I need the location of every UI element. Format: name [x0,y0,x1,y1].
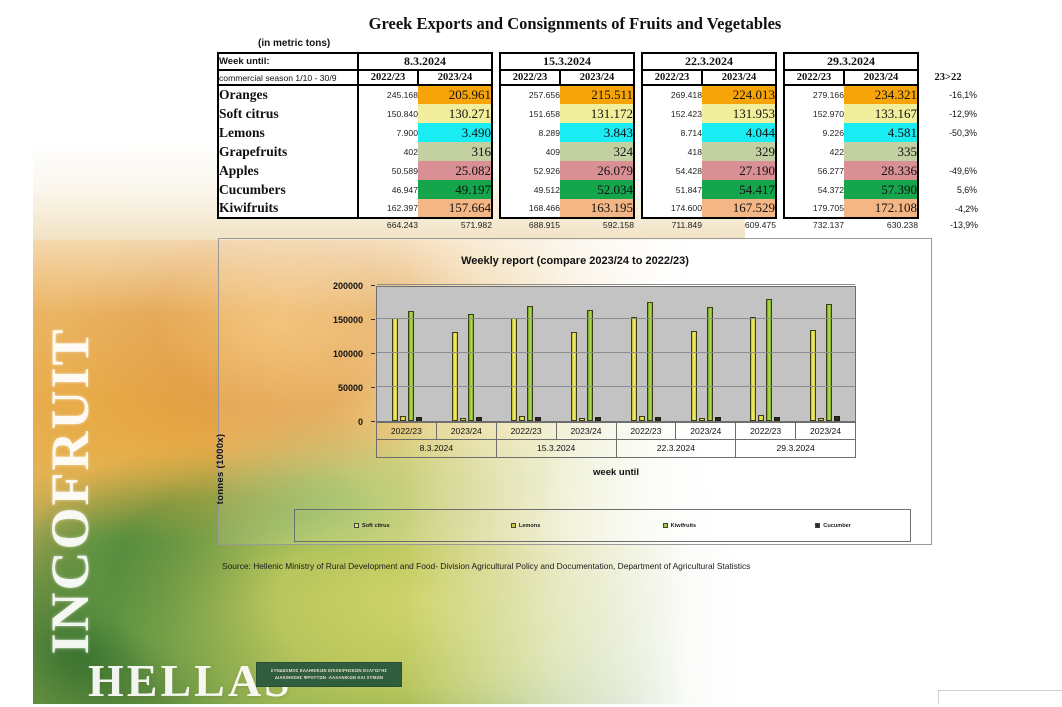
chart-panel: Weekly report (compare 2023/24 to 2022/2… [218,238,932,545]
cell-prev: 152.423 [642,104,702,123]
x-season-label: 2023/24 [436,422,496,439]
cell-current: 4.581 [844,123,918,142]
x-season-label: 2023/24 [675,422,735,439]
cell-prev: 51.847 [642,180,702,199]
chart-bar-group [437,287,497,421]
cell-prev: 151.658 [500,104,560,123]
chart-bar [476,417,482,421]
cell-prev: 179.705 [784,199,844,218]
spacer-cell [492,85,500,104]
watermark-brand: INCOFRUIT [39,311,101,671]
cell-current: 133.167 [844,104,918,123]
chart-bar [715,417,721,421]
chart-bar [519,416,525,421]
x-week-label: 22.3.2024 [616,440,736,458]
table-row: Grapefruits402316409324418329422335 [218,142,978,161]
x-season-label: 2022/23 [735,422,795,439]
chart-bar [631,317,637,421]
spacer-cell [634,104,642,123]
chart-gridline [377,386,855,387]
year-cur-3: 2023/24 [844,70,918,85]
row-label-cucumbers: Cucumbers [218,180,358,199]
chart-bar [655,417,661,421]
spacer-cell [634,218,642,231]
row-label-grapefruits: Grapefruits [218,142,358,161]
legend-label: Kiwifruits [671,523,696,529]
cell-current: 3.490 [418,123,492,142]
spacer-2 [776,53,784,70]
y-tick-mark [371,319,375,320]
association-badge: ΣΥΝΔΕΣΜΟΣ ΕΛΛΗΝΙΚΩΝ ΕΠΙΧΕΙΡΗΣΕΩΝ ΕΞΑΓΩΓΗ… [256,662,402,687]
table-row: Cucumbers46.94749.19749.51252.03451.8475… [218,180,978,199]
cell-current: 52.034 [560,180,634,199]
chart-bar-group [556,287,616,421]
chart-bar-group [676,287,736,421]
chart-bar-group [497,287,557,421]
cell-current: 215.511 [560,85,634,104]
x-week-label: 29.3.2024 [735,440,856,458]
spacer-cell [776,85,784,104]
page-title: Greek Exports and Consignments of Fruits… [215,14,935,34]
cell-prev: 7.900 [358,123,418,142]
table-body: Oranges245.168205.961257.656215.511269.4… [218,85,978,231]
chart-plot-area [376,286,856,422]
chart-bar [416,417,422,421]
x-axis: 2022/232023/242022/232023/242022/232023/… [376,422,856,458]
cell-current: 54.417 [702,180,776,199]
y-tick-mark [371,421,375,422]
spacer-cell [492,123,500,142]
chart-bar [691,331,697,421]
chart-bar [595,417,601,421]
cell-prev: 279.166 [784,85,844,104]
total-prev: 711.849 [642,218,702,231]
chart-gridline [377,284,855,285]
chart-bar [774,417,780,421]
cell-current: 4.044 [702,123,776,142]
spacer-0 [492,53,500,70]
x-season-label: 2023/24 [795,422,856,439]
cell-current: 26.079 [560,161,634,180]
total-current: 592.158 [560,218,634,231]
cell-current: 130.271 [418,104,492,123]
spacer-6 [776,70,784,85]
cell-prev: 402 [358,142,418,161]
cell-current: 57.390 [844,180,918,199]
cell-prev: 162.397 [358,199,418,218]
chart-bar [707,307,713,421]
total-prev: 664.243 [358,218,418,231]
cell-current: 131.953 [702,104,776,123]
y-tick-mark [371,353,375,354]
year-prev-2: 2022/23 [642,70,702,85]
y-tick-label: 200000 [333,281,363,291]
cell-prev: 245.168 [358,85,418,104]
cell-current: 224.013 [702,85,776,104]
spacer-cell [776,142,784,161]
table-row: Kiwifruits162.397157.664168.466163.19517… [218,199,978,218]
spacer-cell [776,161,784,180]
x-axis-title: week until [376,467,856,478]
spacer-5 [634,70,642,85]
association-badge-line2: ΔΙΑΚΙΝΗΣΗΣ ΦΡΟΥΤΩΝ -ΛΑΧΑΝΙΚΩΝ ΚΑΙ ΧΥΜΩΝ [275,675,383,681]
x-season-label: 2023/24 [556,422,616,439]
legend-swatch-icon [354,523,359,528]
y-tick-mark [371,387,375,388]
cell-prev: 168.466 [500,199,560,218]
cell-current: 234.321 [844,85,918,104]
x-axis-season-labels: 2022/232023/242022/232023/242022/232023/… [376,422,856,440]
spacer-cell [634,123,642,142]
cell-prev: 46.947 [358,180,418,199]
y-tick-label: 50000 [338,383,363,393]
cell-prev: 418 [642,142,702,161]
cell-prev: 152.970 [784,104,844,123]
year-cur-0: 2023/24 [418,70,492,85]
cell-prev: 52.926 [500,161,560,180]
year-prev-1: 2022/23 [500,70,560,85]
chart-bar [392,318,398,421]
week-header-2: 22.3.2024 [642,53,776,70]
legend-label: Soft citrus [362,523,390,529]
cell-prev: 9.226 [784,123,844,142]
chart-gridline [377,318,855,319]
cell-current: 172.108 [844,199,918,218]
table-header-row-seasons: commercial season 1/10 - 30/9 2022/23 20… [218,70,978,85]
cell-compare: -49,6% [918,161,978,180]
spacer-cell [634,142,642,161]
chart-bar [826,304,832,421]
chart-bar [810,330,816,421]
legend-swatch-icon [511,523,516,528]
spacer-cell [634,161,642,180]
chart-bar [527,306,533,421]
chart-bar-group [377,287,437,421]
spacer-cell [492,180,500,199]
chart-bar [647,302,653,421]
cell-current: 49.197 [418,180,492,199]
cell-prev: 49.512 [500,180,560,199]
bottom-right-strip [938,690,1062,704]
y-axis-title: tonnes (1000x) [215,399,226,539]
spacer-cell [776,199,784,218]
compare-header: 23>22 [918,70,978,85]
cell-prev: 8.289 [500,123,560,142]
year-cur-2: 2023/24 [702,70,776,85]
chart-bars [377,287,855,421]
year-prev-3: 2022/23 [784,70,844,85]
x-axis-week-labels: 8.3.202415.3.202422.3.202429.3.2024 [376,440,856,458]
x-week-label: 15.3.2024 [496,440,616,458]
spacer-4 [492,70,500,85]
x-week-label: 8.3.2024 [376,440,496,458]
table-row: Apples50.58925.08252.92626.07954.42827.1… [218,161,978,180]
spacer-cell [492,104,500,123]
total-current: 571.982 [418,218,492,231]
totals-blank [218,218,358,231]
cell-prev: 150.840 [358,104,418,123]
x-season-label: 2022/23 [496,422,556,439]
row-label-lemons: Lemons [218,123,358,142]
legend-item: Kiwifruits [603,523,757,529]
total-prev: 688.915 [500,218,560,231]
legend-label: Cucumber [823,523,851,529]
legend-item: Cucumber [756,523,910,529]
spacer-cell [776,218,784,231]
cell-current: 335 [844,142,918,161]
chart-bar [750,317,756,421]
x-season-label: 2022/23 [376,422,436,439]
chart-legend: Soft citrusLemonsKiwifruitsCucumber [294,509,911,542]
spacer-cell [634,199,642,218]
y-axis-ticks: 050000100000150000200000 [259,286,371,422]
exports-data-table: Week until: 8.3.2024 15.3.2024 22.3.2024… [217,52,979,231]
chart-bar [639,416,645,421]
cell-compare: -50,3% [918,123,978,142]
total-current: 630.238 [844,218,918,231]
cell-current: 28.336 [844,161,918,180]
cell-current: 329 [702,142,776,161]
cell-prev: 54.372 [784,180,844,199]
chart-bar [758,415,764,421]
chart-bar [587,310,593,421]
cell-compare: -12,9% [918,104,978,123]
y-tick-mark [371,285,375,286]
spacer-cell [634,85,642,104]
legend-item: Soft citrus [295,523,449,529]
cell-compare: -16,1% [918,85,978,104]
year-cur-1: 2023/24 [560,70,634,85]
chart-bar [400,416,406,421]
chart-bar [452,332,458,421]
cell-prev: 257.656 [500,85,560,104]
chart-bar [408,311,414,421]
chart-bar-group [795,287,855,421]
spacer-1 [634,53,642,70]
cell-prev: 409 [500,142,560,161]
chart-bar [511,318,517,421]
spacer-cell [492,161,500,180]
week-header-0: 8.3.2024 [358,53,492,70]
chart-bar-group [736,287,796,421]
cell-prev: 50.589 [358,161,418,180]
chart-bar-group [616,287,676,421]
cell-prev: 8.714 [642,123,702,142]
legend-swatch-icon [815,523,820,528]
y-tick-label: 150000 [333,315,363,325]
spacer-cell [492,199,500,218]
cell-current: 163.195 [560,199,634,218]
spacer-3 [918,53,978,70]
legend-label: Lemons [519,523,540,529]
total-current: 609.475 [702,218,776,231]
cell-current: 205.961 [418,85,492,104]
cell-current: 3.843 [560,123,634,142]
chart-bar [699,418,705,421]
cell-prev: 56.277 [784,161,844,180]
table-header-row-dates: Week until: 8.3.2024 15.3.2024 22.3.2024… [218,53,978,70]
y-tick-label: 0 [358,417,363,427]
cell-current: 25.082 [418,161,492,180]
spacer-cell [776,123,784,142]
chart-bar [818,418,824,421]
cell-current: 27.190 [702,161,776,180]
total-compare: -13,9% [918,218,978,231]
cell-current: 324 [560,142,634,161]
cell-compare: 5,6% [918,180,978,199]
row-label-soft-citrus: Soft citrus [218,104,358,123]
cell-prev: 54.428 [642,161,702,180]
metric-units-note: (in metric tons) [258,38,330,49]
row-label-oranges: Oranges [218,85,358,104]
chart-bar [571,332,577,421]
spacer-cell [634,180,642,199]
table-row: Oranges245.168205.961257.656215.511269.4… [218,85,978,104]
chart-bar [468,314,474,421]
cell-current: 316 [418,142,492,161]
cell-prev: 269.418 [642,85,702,104]
legend-item: Lemons [449,523,603,529]
cell-prev: 422 [784,142,844,161]
x-season-label: 2022/23 [616,422,676,439]
cell-compare [918,142,978,161]
chart-bar [834,416,840,421]
table-totals-row: 664.243571.982688.915592.158711.849609.4… [218,218,978,231]
cell-current: 167.529 [702,199,776,218]
legend-swatch-icon [663,523,668,528]
chart-gridline [377,352,855,353]
season-label: commercial season 1/10 - 30/9 [218,70,358,85]
row-label-kiwifruits: Kiwifruits [218,199,358,218]
year-prev-0: 2022/23 [358,70,418,85]
cell-compare: -4,2% [918,199,978,218]
table-header: Week until: 8.3.2024 15.3.2024 22.3.2024… [218,53,978,85]
cell-current: 157.664 [418,199,492,218]
table-row: Lemons7.9003.4908.2893.8438.7144.0449.22… [218,123,978,142]
cell-current: 131.172 [560,104,634,123]
week-until-header: Week until: [218,53,358,70]
table-row: Soft citrus150.840130.271151.658131.1721… [218,104,978,123]
spacer-cell [492,142,500,161]
spacer-cell [492,218,500,231]
total-prev: 732.137 [784,218,844,231]
y-tick-label: 100000 [333,349,363,359]
row-label-apples: Apples [218,161,358,180]
spacer-cell [776,104,784,123]
chart-title: Weekly report (compare 2023/24 to 2022/2… [219,255,931,267]
chart-bar [579,418,585,421]
week-header-1: 15.3.2024 [500,53,634,70]
source-note: Source: Hellenic Ministry of Rural Devel… [222,561,750,571]
chart-bar [460,418,466,421]
spacer-cell [776,180,784,199]
chart-bar [535,417,541,421]
week-header-3: 29.3.2024 [784,53,918,70]
cell-prev: 174.600 [642,199,702,218]
